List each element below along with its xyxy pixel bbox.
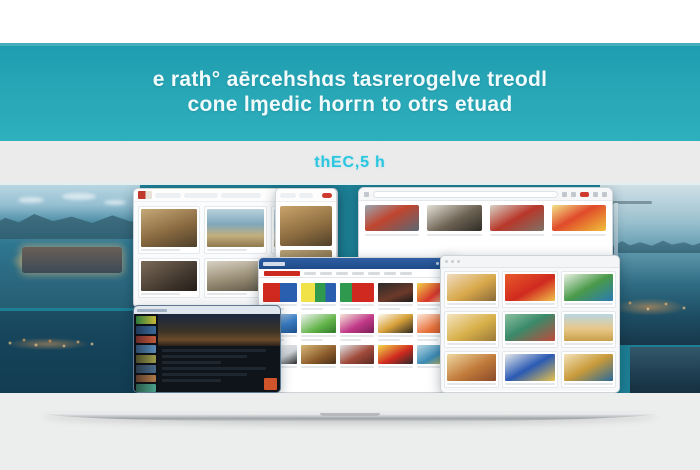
card-caption	[564, 303, 613, 305]
photo-card[interactable]	[502, 271, 557, 308]
product-price	[378, 308, 399, 310]
product-title	[301, 366, 335, 368]
mountain-silhouette	[0, 207, 140, 239]
product-thumbnail	[301, 345, 335, 364]
product-cell[interactable]	[490, 205, 544, 257]
card-caption	[505, 303, 554, 305]
card-caption	[564, 343, 613, 345]
subheader-band: tһEC,5 h	[0, 141, 700, 185]
photo-lake-palace-dusk	[0, 185, 140, 308]
settings-gear-icon[interactable]	[593, 192, 598, 197]
photo-card[interactable]	[444, 351, 499, 388]
browser-toolbar[interactable]	[359, 188, 612, 201]
product-thumbnail	[263, 283, 297, 302]
media-player-body	[134, 314, 280, 393]
product-title	[340, 366, 374, 368]
photo-thumbnail	[505, 274, 554, 301]
product-card[interactable]	[301, 345, 335, 368]
hero-banner: е rath° aērcehshɑs tasreroɡelve treodl c…	[0, 43, 700, 141]
photo-caption	[207, 293, 246, 295]
hero-headline-line-1: е rath° aērcehshɑs tasreroɡelve treodl	[153, 67, 547, 92]
photo-harbor-city-night	[0, 311, 140, 393]
product-price	[301, 308, 322, 310]
photo-thumbnail	[447, 274, 496, 301]
product-caption	[490, 234, 544, 236]
action-button[interactable]	[264, 378, 277, 390]
photo-caption	[141, 249, 180, 251]
nav-item[interactable]	[384, 272, 396, 275]
info-row	[162, 349, 266, 352]
bookmark-star-icon[interactable]	[562, 192, 567, 197]
product-title	[340, 335, 374, 337]
photo-card[interactable]	[204, 206, 266, 254]
thumbnail-item[interactable]	[136, 365, 156, 373]
photo-caption	[141, 293, 180, 295]
product-card[interactable]	[301, 283, 335, 310]
product-thumbnail	[301, 283, 335, 302]
nav-item[interactable]	[336, 272, 348, 275]
photo-thumbnail	[447, 354, 496, 381]
thumbnail-item[interactable]	[136, 355, 156, 363]
window-titlebar[interactable]	[134, 306, 280, 314]
cloud-shape	[18, 197, 44, 203]
thumbnail-item[interactable]	[136, 316, 156, 324]
market-photo-card-grid-window[interactable]	[440, 255, 620, 393]
product-cell[interactable]	[427, 205, 481, 257]
window-title	[263, 262, 285, 266]
window-titlebar[interactable]	[441, 256, 619, 268]
info-row	[162, 355, 247, 358]
photo-card[interactable]	[502, 351, 557, 388]
product-price	[417, 339, 438, 341]
thumbnail-item[interactable]	[136, 326, 156, 334]
product-card[interactable]	[378, 283, 412, 310]
maximize-icon[interactable]	[451, 260, 454, 263]
info-row	[162, 367, 266, 370]
photo-card[interactable]	[138, 258, 200, 298]
product-thumbnail	[552, 205, 606, 231]
product-caption	[552, 234, 606, 236]
product-title	[378, 304, 412, 306]
thumbnail-item[interactable]	[136, 345, 156, 353]
photo-forest-shoreline-dusk	[630, 347, 700, 393]
product-card[interactable]	[378, 314, 412, 341]
photo-card[interactable]	[561, 271, 616, 308]
product-thumbnail	[378, 283, 412, 302]
cloud-shape	[62, 193, 96, 200]
product-title	[301, 304, 335, 306]
product-thumbnail	[378, 314, 412, 333]
storefront-browser-window[interactable]	[358, 187, 613, 262]
card-caption	[564, 383, 613, 385]
product-card[interactable]	[378, 345, 412, 368]
thumbnail-item[interactable]	[136, 336, 156, 344]
product-thumbnail	[378, 345, 412, 364]
product-title	[378, 366, 412, 368]
photo-card[interactable]	[502, 311, 557, 348]
photo-thumbnail	[505, 314, 554, 341]
side-panel-toolbar[interactable]	[276, 189, 336, 202]
product-thumbnail	[427, 205, 481, 231]
badge	[322, 193, 332, 198]
photo-thumbnail	[207, 261, 263, 291]
close-icon[interactable]	[457, 260, 460, 263]
photo-thumbnail	[505, 354, 554, 381]
site-logo-icon	[138, 191, 152, 199]
photo-card[interactable]	[138, 206, 200, 254]
product-thumbnail	[340, 283, 374, 302]
window-titlebar[interactable]	[259, 258, 455, 269]
profile-avatar[interactable]	[580, 192, 589, 197]
product-price	[340, 308, 361, 310]
close-icon[interactable]	[602, 192, 607, 197]
cloud-shape	[104, 200, 126, 205]
product-card[interactable]	[340, 345, 374, 368]
photo-caption	[207, 249, 246, 251]
hero-preview-image	[158, 314, 280, 346]
product-thumbnail	[340, 314, 374, 333]
photo-thumbnail[interactable]	[280, 206, 332, 246]
thumbnail-sidebar[interactable]	[134, 314, 158, 393]
product-price	[301, 339, 322, 341]
thumbnail-item[interactable]	[136, 375, 156, 383]
photo-thumbnail	[141, 261, 197, 291]
island-palace	[22, 247, 122, 273]
photo-card[interactable]	[444, 311, 499, 348]
city-lights	[0, 335, 120, 353]
address-bar-input[interactable]	[373, 191, 558, 198]
product-cell[interactable]	[552, 205, 606, 257]
window-title	[137, 309, 167, 312]
minimize-icon[interactable]	[436, 262, 439, 265]
card-caption	[447, 343, 496, 345]
nav-item[interactable]	[280, 193, 296, 198]
dark-media-player-window[interactable]	[133, 305, 281, 393]
product-title	[340, 304, 374, 306]
screenshot-collage	[0, 185, 700, 393]
product-thumbnail	[490, 205, 544, 231]
photo-thumbnail	[207, 209, 263, 247]
info-row	[162, 361, 221, 364]
product-title	[378, 335, 412, 337]
hero-headline-line-2: cone lɱedic horгn to otrs etuad	[188, 92, 513, 117]
laptop-base-notch	[320, 413, 380, 416]
top-white-margin	[0, 0, 700, 43]
product-caption	[365, 234, 419, 236]
card-caption	[447, 383, 496, 385]
back-arrow-icon[interactable]	[364, 192, 369, 197]
laptop-base	[0, 393, 700, 470]
nav-item[interactable]	[299, 193, 313, 198]
product-cell[interactable]	[365, 205, 419, 257]
photo-thumbnail	[447, 314, 496, 341]
product-thumbnail	[301, 314, 335, 333]
product-thumbnail	[365, 205, 419, 231]
photo-card[interactable]	[561, 311, 616, 348]
site-logo-icon[interactable]	[264, 271, 300, 276]
minimize-icon[interactable]	[445, 260, 448, 263]
photo-thumbnail	[564, 274, 613, 301]
nav-item[interactable]	[368, 272, 380, 275]
product-price	[417, 308, 438, 310]
product-thumbnail	[340, 345, 374, 364]
product-price	[340, 339, 361, 341]
card-grid	[441, 268, 619, 391]
card-caption	[447, 303, 496, 305]
product-title	[301, 335, 335, 337]
nav-item[interactable]	[320, 272, 332, 275]
site-navbar[interactable]	[259, 269, 455, 278]
thumbnail-item[interactable]	[136, 384, 156, 392]
extensions-icon[interactable]	[571, 192, 576, 197]
product-caption	[427, 234, 481, 236]
card-caption	[505, 343, 554, 345]
subheader-text: tһEC,5 h	[314, 154, 385, 172]
product-price	[378, 339, 399, 341]
storefront-content	[359, 201, 612, 261]
info-row	[162, 373, 247, 376]
nav-item[interactable]	[155, 193, 181, 198]
product-grid	[259, 278, 455, 373]
nav-item[interactable]	[400, 272, 412, 275]
photo-thumbnail	[564, 354, 613, 381]
nav-item[interactable]	[221, 193, 261, 198]
product-catalog-browser-window[interactable]	[258, 257, 456, 393]
product-card[interactable]	[340, 283, 374, 310]
nav-item[interactable]	[184, 193, 218, 198]
photo-card[interactable]	[561, 351, 616, 388]
media-main-panel	[158, 314, 280, 393]
product-card[interactable]	[301, 314, 335, 341]
nav-item[interactable]	[352, 272, 364, 275]
info-row	[162, 379, 221, 382]
photo-card[interactable]	[444, 271, 499, 308]
nav-item[interactable]	[304, 272, 316, 275]
card-caption	[505, 383, 554, 385]
photo-thumbnail	[141, 209, 197, 247]
photo-thumbnail	[564, 314, 613, 341]
product-card[interactable]	[340, 314, 374, 341]
